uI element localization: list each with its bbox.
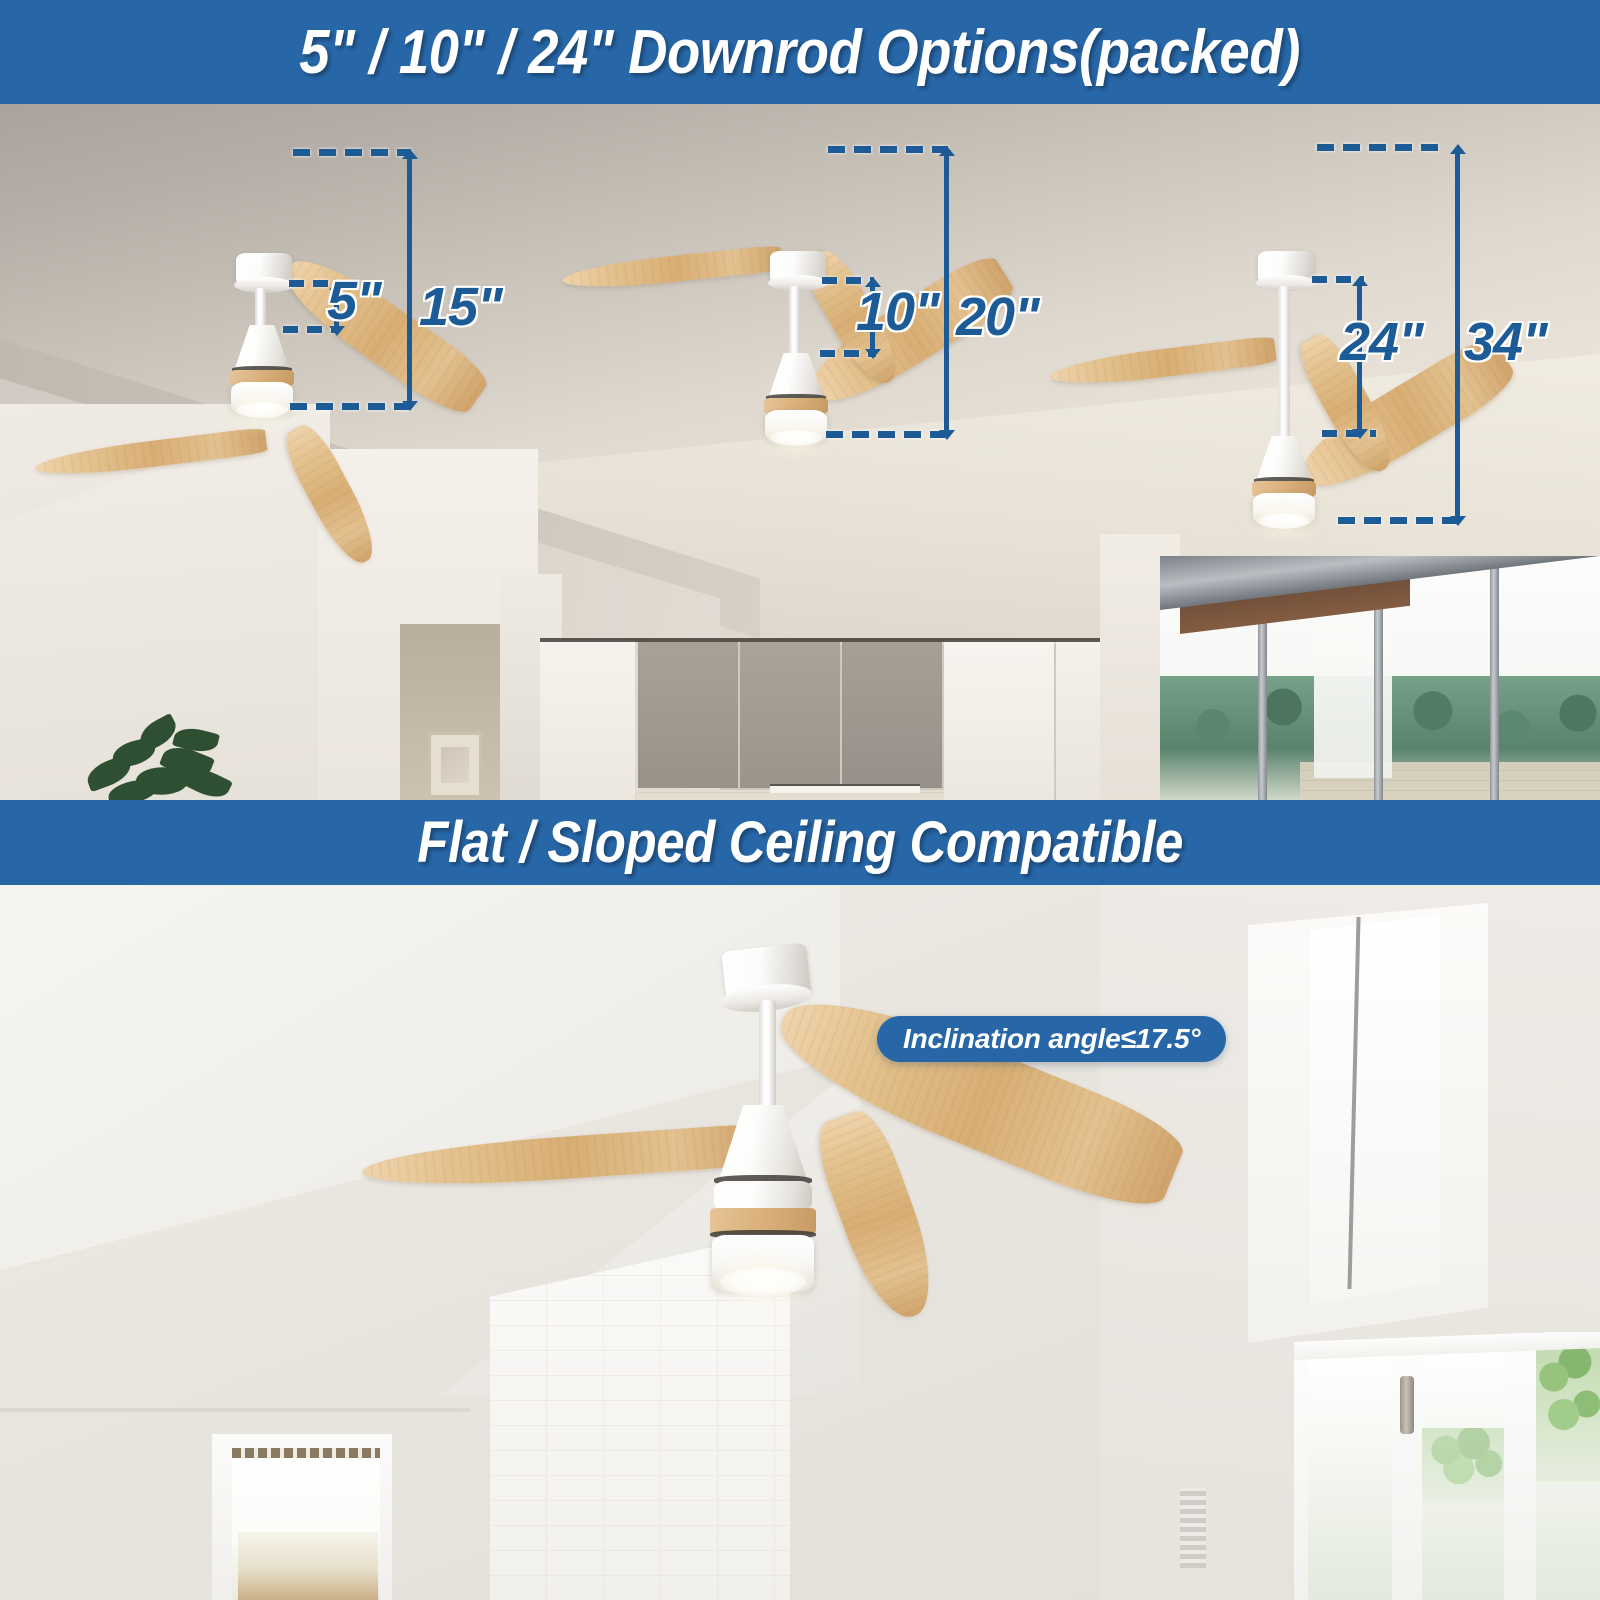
fan-light-lens xyxy=(720,1268,806,1296)
cabinet-top-shadow-line xyxy=(540,638,1150,642)
fan-downrod xyxy=(759,1000,776,1110)
french-door-stile-3 xyxy=(1504,1334,1536,1600)
dim-arrow-total-15in xyxy=(407,158,412,402)
cabinet-grey-2 xyxy=(740,642,840,788)
fan-motor-housing xyxy=(234,325,290,371)
product-feature-page: 5" / 10" / 24" Downrod Options(packed) xyxy=(0,0,1600,1600)
outdoor-tree xyxy=(1534,1332,1600,1482)
fan-motor-housing xyxy=(1256,436,1312,482)
fan-light-lens xyxy=(1258,513,1310,529)
cabinet-grey-1 xyxy=(638,642,738,788)
fan-downrod xyxy=(789,286,800,358)
outdoor-shrub xyxy=(1420,1428,1506,1502)
fan-blade xyxy=(561,245,783,294)
fan-blade xyxy=(1049,335,1277,390)
dim-inner-bottom-guide-24in xyxy=(1322,430,1376,437)
fan-downrod xyxy=(255,288,266,330)
ceiling-fan-5in xyxy=(0,104,460,384)
dim-label-downrod-24in: 24" xyxy=(1340,311,1423,373)
dim-top-guide-5in xyxy=(293,149,411,156)
cabinet-white-right xyxy=(944,640,1054,800)
middle-banner-title: Flat / Sloped Ceiling Compatible xyxy=(417,809,1183,876)
dim-label-total-15in: 15" xyxy=(419,276,502,338)
door-handle xyxy=(1400,1376,1414,1434)
fan-blade xyxy=(808,1104,948,1328)
fan-light-lens xyxy=(770,430,822,446)
dim-label-total-20in: 20" xyxy=(956,286,1039,348)
french-door-stile-1 xyxy=(1294,1350,1308,1600)
dim-arrow-total-20in xyxy=(944,155,949,431)
dim-top-guide-10in xyxy=(828,146,948,153)
french-door-pane-1 xyxy=(1306,1354,1392,1600)
top-banner: 5" / 10" / 24" Downrod Options(packed) xyxy=(0,0,1600,104)
inclination-angle-badge: Inclination angle≤17.5° xyxy=(877,1016,1226,1062)
dim-bottom-guide-10in xyxy=(826,431,950,438)
range-hood xyxy=(770,784,920,793)
outdoor-view xyxy=(238,1532,378,1600)
wall-art xyxy=(428,732,482,798)
dim-label-total-34in: 34" xyxy=(1464,311,1547,373)
door-transom-grille xyxy=(232,1448,380,1458)
fan-blade xyxy=(361,1123,763,1193)
dormer-window-glass xyxy=(1310,915,1440,1305)
fan-downrod xyxy=(1278,286,1290,441)
middle-banner: Flat / Sloped Ceiling Compatible xyxy=(0,800,1600,885)
dim-arrow-total-34in xyxy=(1455,153,1460,517)
sloped-ceiling-scene: Inclination angle≤17.5° xyxy=(0,885,1600,1600)
cabinet-grey-3 xyxy=(842,642,942,788)
kitchen-cabinets xyxy=(540,632,1150,800)
cabinet-white-left xyxy=(540,640,635,800)
wall-base-band xyxy=(0,1408,470,1412)
dim-top-guide-24in xyxy=(1317,144,1439,151)
dim-bottom-guide-24in xyxy=(1338,517,1460,524)
window-mullion-3 xyxy=(1490,556,1499,800)
potted-plant xyxy=(78,719,258,800)
dim-label-downrod-5in: 5" xyxy=(327,270,381,332)
ceiling-fan-24in xyxy=(1020,104,1500,504)
dim-label-downrod-10in: 10" xyxy=(856,281,939,343)
french-doors xyxy=(1258,1332,1600,1600)
top-banner-title: 5" / 10" / 24" Downrod Options(packed) xyxy=(300,17,1301,88)
inclination-angle-label: Inclination angle≤17.5° xyxy=(903,1023,1200,1055)
dim-bottom-guide-5in xyxy=(290,403,412,410)
fan-light-lens xyxy=(236,402,288,418)
floor-vent xyxy=(1180,1488,1206,1568)
fan-motor-housing xyxy=(768,353,824,399)
fan-motor-housing xyxy=(718,1105,808,1183)
flat-ceiling-scene: 5" 15" 10" 20" xyxy=(0,104,1600,800)
fan-motor-lower xyxy=(714,1181,812,1211)
sliding-glass-doors xyxy=(1160,556,1600,800)
